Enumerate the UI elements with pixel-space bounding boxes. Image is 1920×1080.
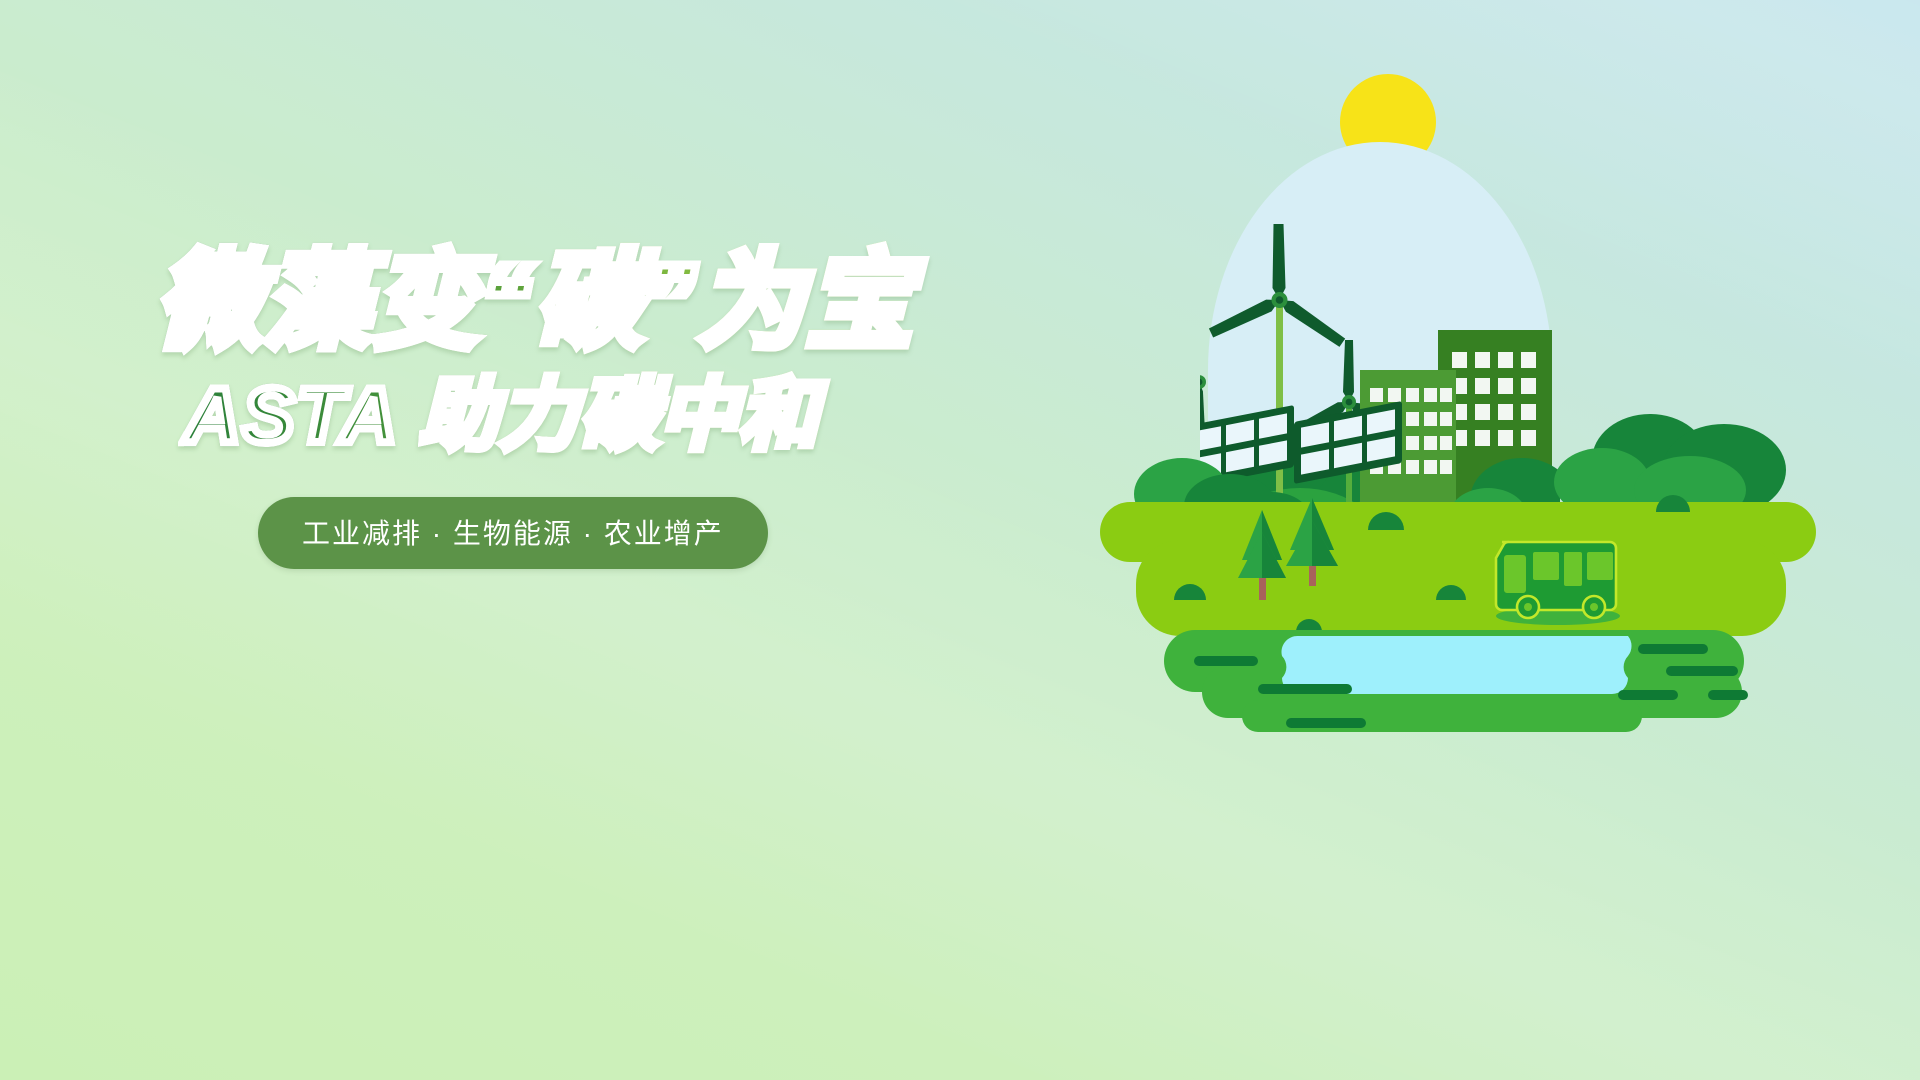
tagline-badge: 工业减排 · 生物能源 · 农业增产 — [258, 497, 768, 569]
page-title: 微藻变“碳”为宝 — [156, 240, 910, 365]
eco-city-illustration — [1090, 70, 1830, 770]
eco-banner: 微藻变“碳”为宝 ASTA 助力碳中和 工业减排 · 生物能源 · 农业增产 — [0, 0, 1920, 1080]
page-subtitle: ASTA 助力碳中和 — [184, 369, 910, 461]
pond-band — [1164, 630, 1748, 732]
grass-field — [1100, 502, 1816, 636]
electric-bus — [1496, 542, 1620, 625]
headline-block: 微藻变“碳”为宝 ASTA 助力碳中和 工业减排 · 生物能源 · 农业增产 — [150, 240, 910, 569]
